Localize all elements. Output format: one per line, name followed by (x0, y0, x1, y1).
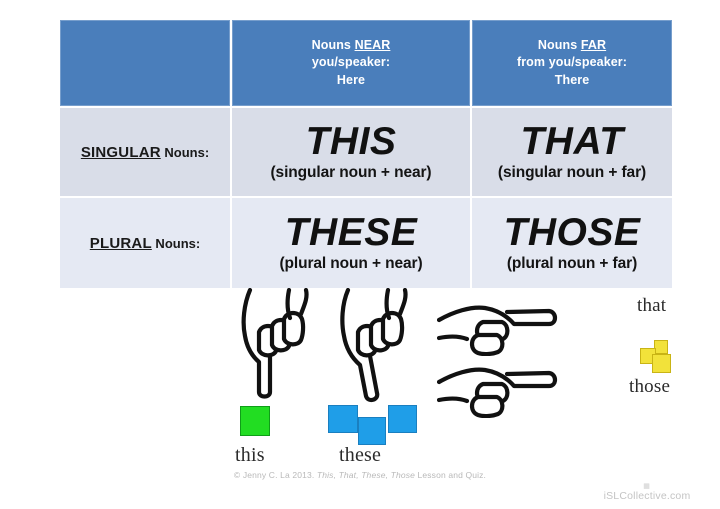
row-label-singular-rest: Nouns: (161, 145, 209, 160)
hand-pointing-right-that-icon (437, 294, 565, 356)
header-cell-far: Nouns FAR from you/speaker: There (472, 20, 672, 106)
word-these: THESE (232, 213, 470, 254)
word-this: THIS (232, 122, 470, 163)
copyright-title: This, That, These, Those (317, 470, 415, 480)
table-header-row: Nouns NEAR you/speaker: Here Nouns FAR f… (60, 20, 672, 106)
slide-canvas: Nouns NEAR you/speaker: Here Nouns FAR f… (0, 0, 720, 509)
header-far-line2: from you/speaker: (472, 54, 672, 71)
header-far-prefix: Nouns (538, 38, 581, 52)
row-label-singular-keyword: SINGULAR (81, 144, 161, 161)
cell-that: THAT (singular noun + far) (472, 108, 672, 196)
cell-these: THESE (plural noun + near) (232, 198, 470, 288)
header-near-prefix: Nouns (312, 38, 355, 52)
table-row-plural: PLURAL Nouns: THESE (plural noun + near)… (60, 198, 672, 288)
copyright-notice: © Jenny C. La 2013. This, That, These, T… (0, 470, 720, 480)
header-far-line1: Nouns FAR (472, 37, 672, 54)
row-label-plural-rest: Nouns: (152, 236, 200, 251)
header-near-line3: Here (232, 72, 470, 89)
caption-this: this (235, 444, 265, 467)
header-near-line2: you/speaker: (232, 54, 470, 71)
caption-that: that (637, 295, 666, 317)
word-those: THOSE (472, 213, 672, 254)
row-label-plural-keyword: PLURAL (90, 235, 152, 252)
caption-these: these (339, 444, 381, 467)
header-near-keyword: NEAR (355, 38, 391, 52)
row-label-singular: SINGULAR Nouns: (60, 108, 230, 196)
caption-those: those (629, 376, 670, 398)
hand-pointing-down-these-icon (332, 288, 410, 406)
hand-pointing-right-those-icon (437, 356, 565, 418)
subtext-those: (plural noun + far) (472, 255, 672, 273)
hand-pointing-down-this-icon (232, 288, 310, 400)
watermark-text: iSLCollective.com (582, 490, 712, 503)
header-far-keyword: FAR (581, 38, 606, 52)
header-near-line1: Nouns NEAR (232, 37, 470, 54)
square-yellow-those-1 (654, 340, 668, 354)
header-cell-blank (60, 20, 230, 106)
copyright-suffix: Lesson and Quiz. (415, 470, 486, 480)
table-row-singular: SINGULAR Nouns: THIS (singular noun + ne… (60, 108, 672, 196)
square-blue-these-1 (328, 405, 358, 433)
copyright-prefix: © Jenny C. La 2013. (234, 470, 317, 480)
square-green-this (240, 406, 270, 436)
islcollective-watermark: ▦ iSLCollective.com (582, 483, 712, 503)
cell-this: THIS (singular noun + near) (232, 108, 470, 196)
square-blue-these-2 (358, 417, 386, 445)
demonstratives-table: Nouns NEAR you/speaker: Here Nouns FAR f… (58, 18, 674, 290)
subtext-these: (plural noun + near) (232, 255, 470, 273)
subtext-that: (singular noun + far) (472, 164, 672, 182)
header-far-line3: There (472, 72, 672, 89)
subtext-this: (singular noun + near) (232, 164, 470, 182)
header-cell-near: Nouns NEAR you/speaker: Here (232, 20, 470, 106)
row-label-plural: PLURAL Nouns: (60, 198, 230, 288)
square-yellow-those-3 (652, 354, 671, 373)
cell-those: THOSE (plural noun + far) (472, 198, 672, 288)
square-blue-these-3 (388, 405, 417, 433)
word-that: THAT (472, 122, 672, 163)
watermark-logo-icon: ▦ (582, 483, 712, 490)
